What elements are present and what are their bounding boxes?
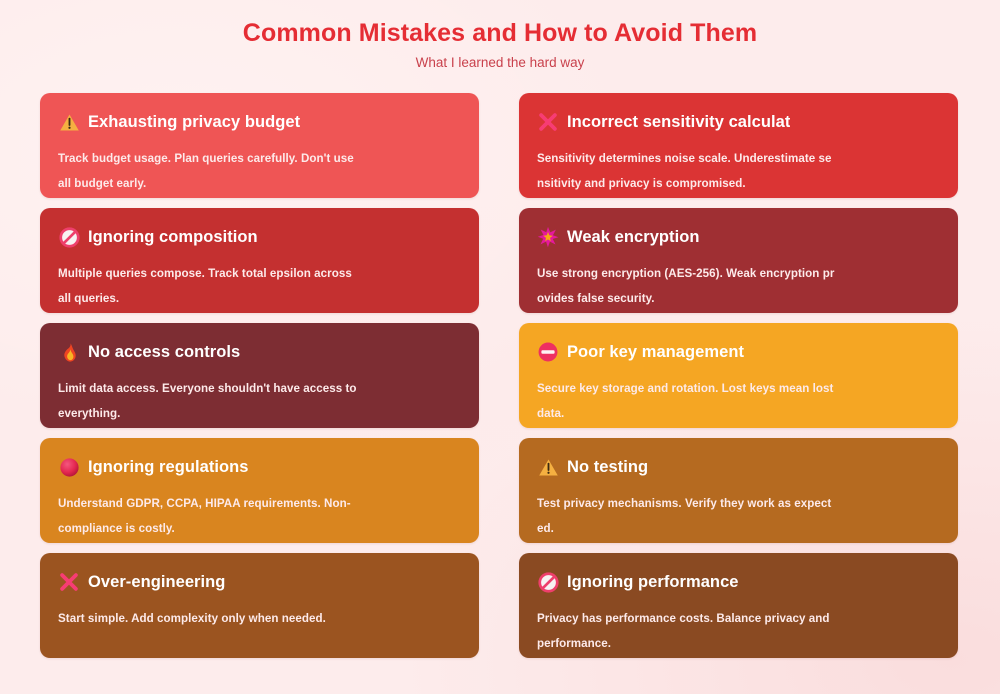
card-title: Ignoring regulations [88,456,249,478]
mistake-card[interactable]: Ignoring composition Multiple queries co… [40,208,479,313]
card-title: Weak encryption [567,226,699,248]
cross-mark-icon [537,111,559,133]
page-title: Common Mistakes and How to Avoid Them [0,19,1000,48]
infographic-page: Common Mistakes and How to Avoid Them Wh… [0,0,1000,694]
mistake-card[interactable]: Exhausting privacy budget Track budget u… [40,93,479,198]
card-title: Ignoring composition [88,226,258,248]
card-header: Incorrect sensitivity calculat [537,110,940,134]
collision-icon [537,226,559,248]
mistakes-card-grid: Exhausting privacy budget Track budget u… [40,72,960,658]
card-header: Ignoring regulations [58,455,461,479]
card-description: Limit data access. Everyone shouldn't ha… [58,376,358,426]
card-header: No testing [537,455,940,479]
card-description: Start simple. Add complexity only when n… [58,606,388,631]
prohibited-icon [537,571,559,593]
card-description: Understand GDPR, CCPA, HIPAA requirement… [58,491,388,541]
warning-triangle-icon [537,456,559,478]
fire-icon [58,341,80,363]
card-description: Multiple queries compose. Track total ep… [58,261,358,311]
card-header: No access controls [58,340,461,364]
card-title: No testing [567,456,648,478]
red-circle-icon [58,456,80,478]
page-subtitle: What I learned the hard way [0,54,1000,72]
mistake-card[interactable]: No access controls Limit data access. Ev… [40,323,479,428]
card-title: No access controls [88,341,240,363]
card-header: Poor key management [537,340,940,364]
card-title: Poor key management [567,341,744,363]
card-header: Over-engineering [58,570,461,594]
prohibited-icon [58,226,80,248]
mistake-card[interactable]: Incorrect sensitivity calculat Sensitivi… [519,93,958,198]
card-header: Ignoring performance [537,570,940,594]
card-header: Ignoring composition [58,225,461,249]
mistake-card[interactable]: No testing Test privacy mechanisms. Veri… [519,438,958,543]
card-description: Sensitivity determines noise scale. Unde… [537,146,837,196]
card-description: Secure key storage and rotation. Lost ke… [537,376,837,426]
warning-triangle-icon [58,111,80,133]
mistake-card[interactable]: Poor key management Secure key storage a… [519,323,958,428]
page-header: Common Mistakes and How to Avoid Them Wh… [0,0,1000,72]
mistake-card[interactable]: Weak encryption Use strong encryption (A… [519,208,958,313]
mistake-card[interactable]: Ignoring regulations Understand GDPR, CC… [40,438,479,543]
mistake-card[interactable]: Over-engineering Start simple. Add compl… [40,553,479,658]
no-entry-icon [537,341,559,363]
mistake-card[interactable]: Ignoring performance Privacy has perform… [519,553,958,658]
card-description: Privacy has performance costs. Balance p… [537,606,837,656]
card-title: Over-engineering [88,571,225,593]
card-header: Exhausting privacy budget [58,110,461,134]
card-title: Ignoring performance [567,571,739,593]
card-description: Track budget usage. Plan queries careful… [58,146,358,196]
card-header: Weak encryption [537,225,940,249]
card-description: Use strong encryption (AES-256). Weak en… [537,261,837,311]
card-description: Test privacy mechanisms. Verify they wor… [537,491,837,541]
card-title: Exhausting privacy budget [88,111,300,133]
cross-mark-icon [58,571,80,593]
card-title: Incorrect sensitivity calculat [567,111,790,133]
